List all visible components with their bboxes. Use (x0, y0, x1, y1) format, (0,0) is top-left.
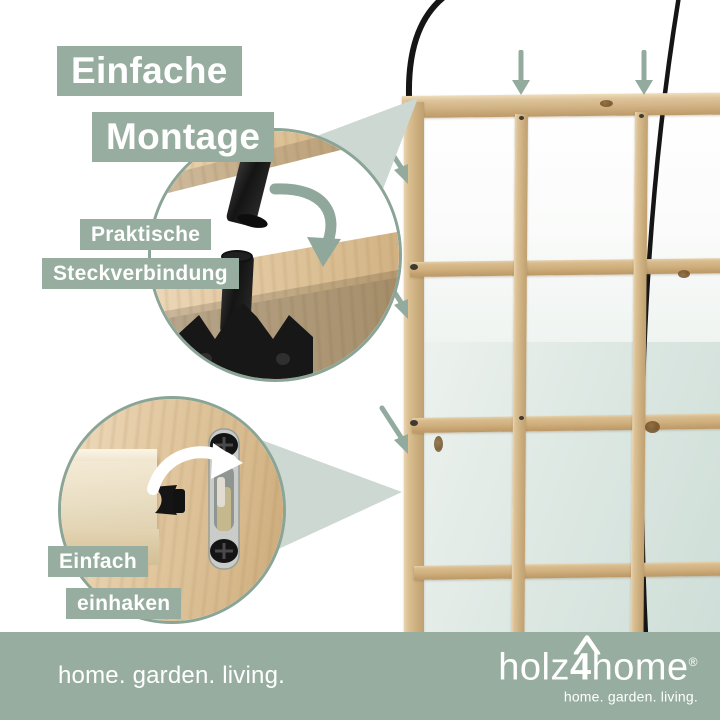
arrow-curved-icon (263, 179, 353, 277)
callout-circle-steckverbindung (148, 128, 402, 382)
callout-label-steckverbindung: Steckverbindung (42, 258, 239, 289)
corner-bracket (169, 297, 319, 382)
brand-logo-number: 4 (570, 647, 592, 689)
wood-beam-top (58, 449, 157, 461)
arrow-curved-icon (147, 435, 257, 507)
callout-label-einfach: Einfach (48, 546, 148, 577)
trellis-rail-2 (410, 258, 720, 277)
callout-label-praktische: Praktische (80, 219, 211, 250)
wood-knot (434, 436, 443, 452)
screw-head (519, 116, 524, 120)
headline-line-2: Montage (92, 112, 274, 162)
callout-label-einhaken: einhaken (66, 588, 181, 619)
arrow-down-icon (508, 50, 534, 100)
brand-tagline: home. garden. living. (498, 689, 698, 705)
wood-knot (678, 270, 690, 278)
trellis-top-rail (402, 93, 720, 118)
wood-beam-face (58, 455, 157, 535)
hanging-cable-left (396, 0, 526, 106)
arrow-down-icon (631, 50, 657, 100)
headline-line-1: Einfache (57, 46, 242, 96)
screw-head (639, 114, 644, 118)
wood-knot (645, 421, 660, 433)
footer-bar: home. garden. living. holz 4home® home. … (0, 632, 720, 720)
brand-logo-post: home (592, 647, 689, 689)
trellis-slat-1 (511, 114, 528, 636)
wooden-trellis (402, 96, 720, 636)
footer-tagline: home. garden. living. (58, 662, 285, 690)
brand-logo: holz 4home® home. garden. living. (498, 648, 698, 705)
screw-head (519, 416, 524, 420)
brand-wordmark: holz 4home® (498, 648, 698, 688)
trellis-rail-4 (414, 562, 720, 580)
brand-logo-four-wrap: 4 (570, 648, 592, 688)
trellis-rail-3 (412, 414, 720, 433)
wood-knot (600, 100, 613, 107)
brand-logo-pre: holz (498, 647, 570, 689)
product-infographic: Einfache Montage Praktische Steckverbind… (0, 0, 720, 720)
registered-trademark-icon: ® (689, 655, 698, 669)
trellis-slat-2 (630, 112, 648, 636)
